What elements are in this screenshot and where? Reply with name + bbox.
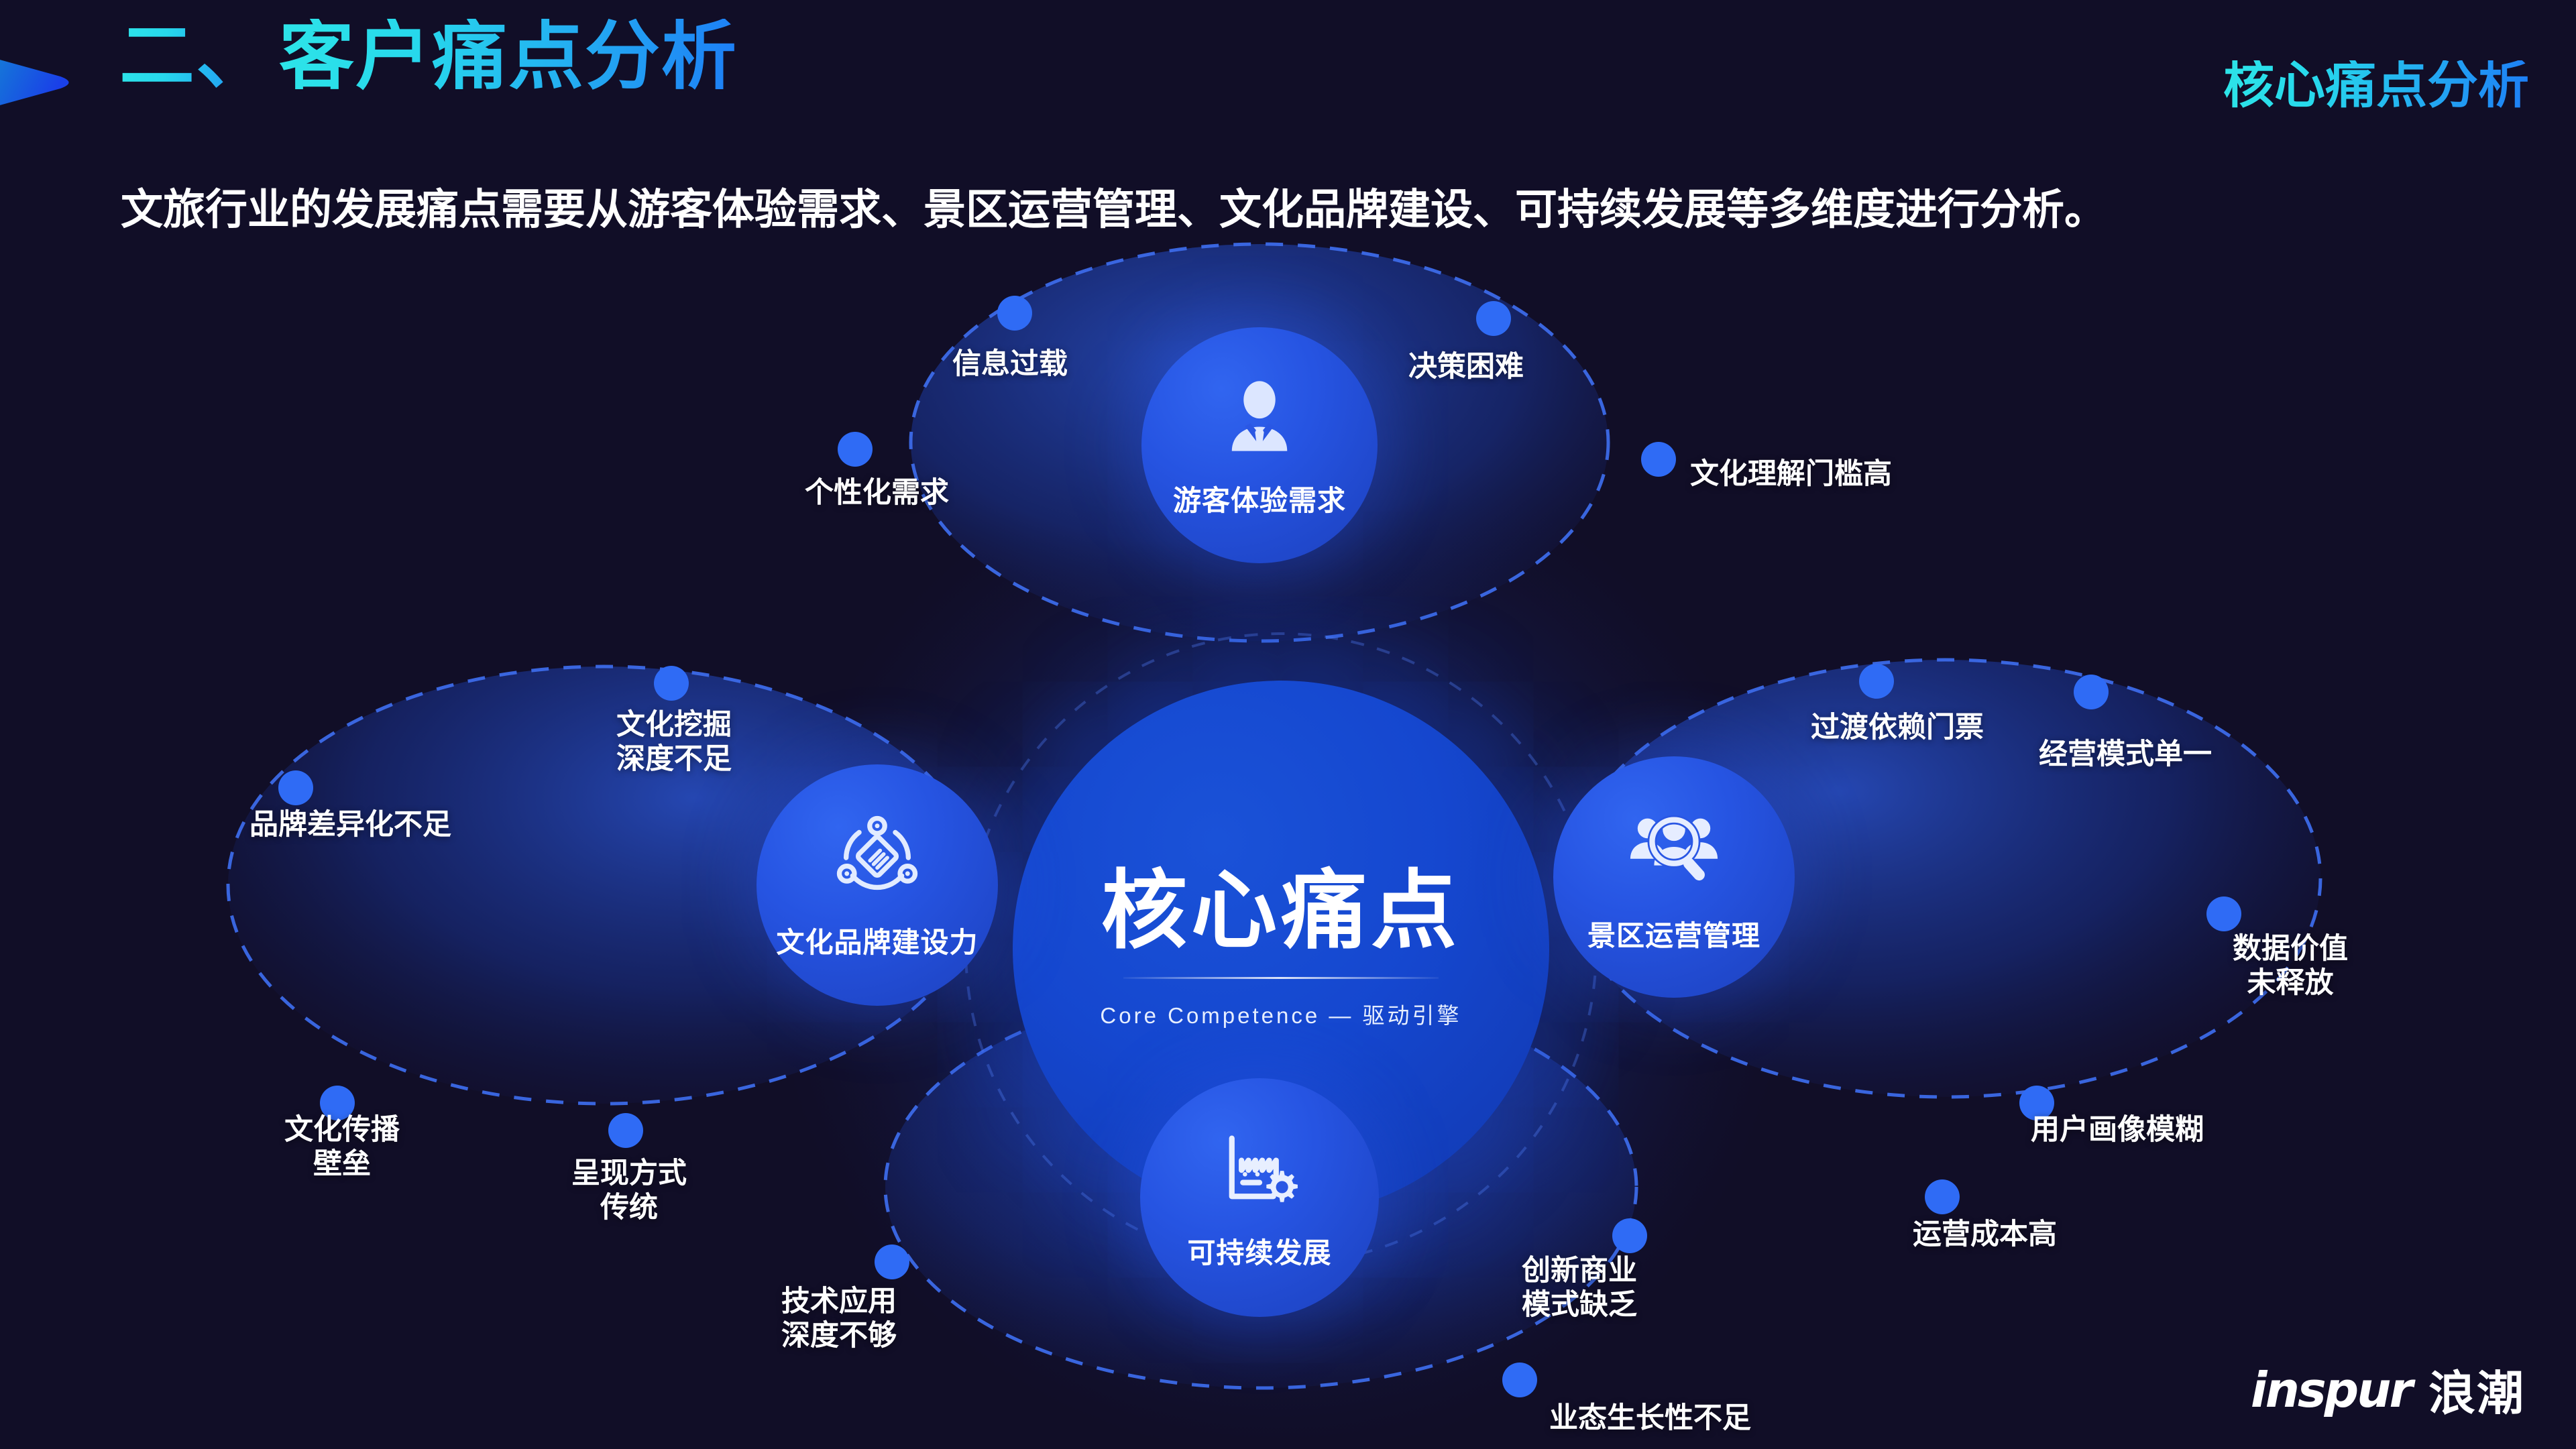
logo-wordmark: inspur xyxy=(2251,1362,2411,1418)
leaf-single-business-model[interactable]: 经营模式单一 xyxy=(2039,738,2212,772)
title-index: 二、 xyxy=(119,19,272,94)
leaf-ticket-dependency[interactable]: 过渡依赖门票 xyxy=(1811,711,1984,745)
leaf-data-value-unreleased[interactable]: 数据价值 未释放 xyxy=(2206,932,2374,1000)
pain-point-diagram: 核心痛点 Core Competence — 驱动引擎 游客体验需求 xyxy=(0,241,2576,1448)
leaf-decision-difficulty[interactable]: 决策困难 xyxy=(1408,350,1524,384)
leaf-presentation-traditional[interactable]: 呈现方式 传统 xyxy=(555,1157,703,1224)
leaf-innovative-business-model[interactable]: 创新商业 模式缺乏 xyxy=(1496,1254,1663,1322)
leaf-weak-format-growth[interactable]: 业态生长性不足 xyxy=(1549,1401,1751,1436)
logo-chinese-name: 浪潮 xyxy=(2428,1356,2525,1424)
leaf-tech-application-depth[interactable]: 技术应用 深度不够 xyxy=(755,1285,923,1352)
leaf-culture-threshold[interactable]: 文化理解门槛高 xyxy=(1690,457,1892,491)
chevron-right-marker-icon xyxy=(0,32,114,133)
leaf-high-operating-cost[interactable]: 运营成本高 xyxy=(1913,1218,2057,1252)
people-magnifier-icon xyxy=(1626,801,1722,896)
hub-title: 核心痛点 xyxy=(1101,868,1461,954)
node-sustainable-development[interactable]: 可持续发展 xyxy=(1140,1078,1379,1317)
title-main: 客户痛点分析 xyxy=(279,19,738,94)
header-right-tag: 核心痛点分析 xyxy=(2223,60,2529,111)
node-scenic-operation[interactable]: 景区运营管理 xyxy=(1553,756,1795,998)
hub-subtitle: Core Competence — 驱动引擎 xyxy=(1100,998,1461,1030)
node-culture-brand[interactable]: 文化品牌建设力 xyxy=(757,764,998,1006)
slide-canvas: 二、 客户痛点分析 核心痛点分析 文旅行业的发展痛点需要从游客体验需求、景区运营… xyxy=(0,0,2576,1449)
node-label: 景区运营管理 xyxy=(1587,913,1760,954)
hub-divider xyxy=(1123,977,1439,979)
node-label: 文化品牌建设力 xyxy=(776,920,978,961)
factory-gear-icon xyxy=(1215,1124,1304,1213)
handshake-network-icon xyxy=(831,810,923,903)
leaf-brand-differentiation[interactable]: 品牌差异化不足 xyxy=(249,808,451,842)
node-label: 游客体验需求 xyxy=(1173,478,1346,519)
leaf-info-overload[interactable]: 信息过载 xyxy=(952,347,1068,382)
leaf-personalized-demand[interactable]: 个性化需求 xyxy=(805,476,949,510)
node-label: 可持续发展 xyxy=(1187,1230,1331,1271)
node-visitor-experience[interactable]: 游客体验需求 xyxy=(1141,327,1378,563)
page-title: 二、 客户痛点分析 xyxy=(119,19,738,94)
person-tie-icon xyxy=(1215,372,1304,461)
leaf-culture-spread-barrier[interactable]: 文化传播 壁垒 xyxy=(268,1113,416,1181)
leaf-culture-mining-depth[interactable]: 文化挖掘 深度不足 xyxy=(590,708,758,776)
inspur-logo: inspur 浪潮 xyxy=(2251,1356,2525,1424)
leaf-vague-user-profile[interactable]: 用户画像模糊 xyxy=(2031,1113,2204,1147)
page-subtitle: 文旅行业的发展痛点需要从游客体验需求、景区运营管理、文化品牌建设、可持续发展等多… xyxy=(121,176,2107,237)
